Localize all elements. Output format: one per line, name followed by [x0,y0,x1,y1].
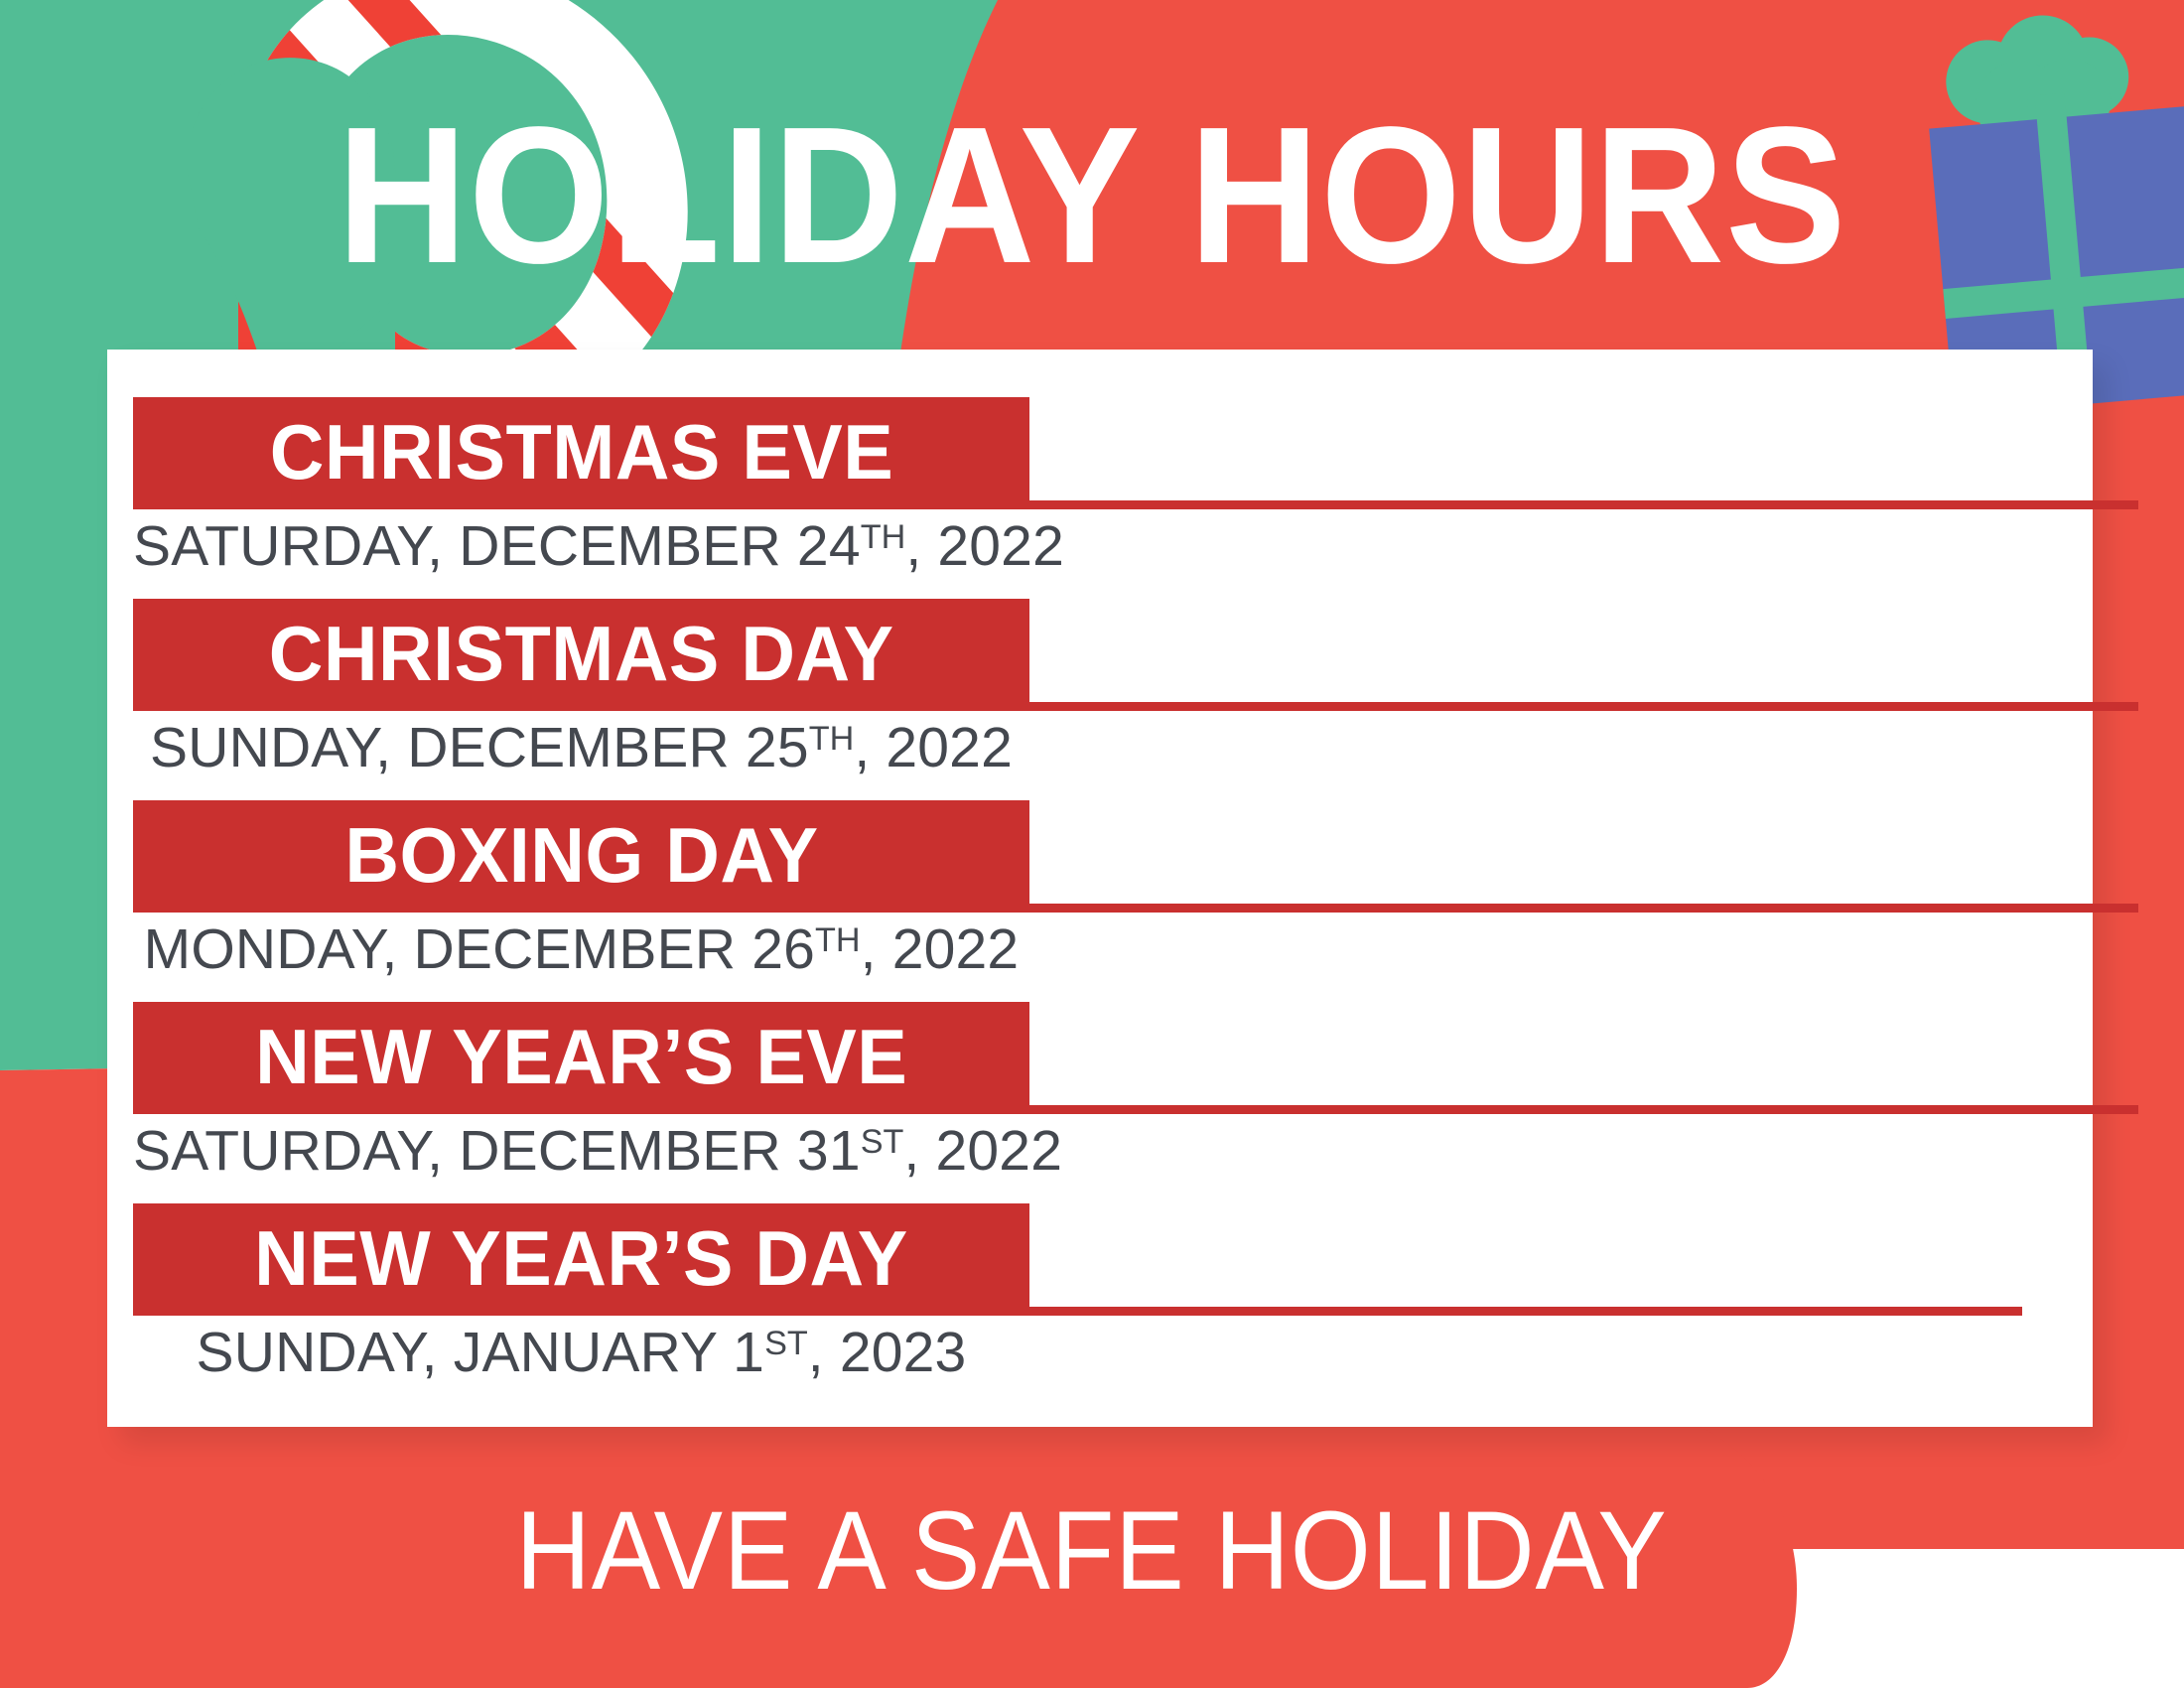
holiday-name-label: CHRISTMAS EVE [269,413,892,491]
hours-write-in-rule[interactable] [1029,1105,2138,1114]
hours-row: CHRISTMAS EVE SATURDAY, DECEMBER 24TH, 2… [107,397,2093,599]
hours-write-in-rule[interactable] [1029,702,2138,711]
holiday-name-bar: CHRISTMAS EVE [133,397,1029,509]
holiday-date: SATURDAY, DECEMBER 24TH, 2022 [133,514,1029,580]
hours-row: CHRISTMAS DAY SUNDAY, DECEMBER 25TH, 202… [107,599,2093,800]
holiday-date-suffix: , 2023 [808,1321,967,1384]
red-bottom-bar-shape [0,1405,1797,1688]
holiday-name-bar: NEW YEAR’S DAY [133,1203,1029,1316]
holiday-date-suffix: , 2022 [861,917,1020,981]
holiday-date-suffix: , 2022 [905,514,1064,578]
hours-row: BOXING DAY MONDAY, DECEMBER 26TH, 2022 [107,800,2093,1002]
holiday-date: SATURDAY, DECEMBER 31ST, 2022 [133,1119,1029,1185]
holiday-date-suffix: , 2022 [854,716,1013,779]
hours-card: CHRISTMAS EVE SATURDAY, DECEMBER 24TH, 2… [107,350,2093,1427]
holiday-name-bar: BOXING DAY [133,800,1029,913]
holiday-date-suffix: , 2022 [903,1119,1062,1183]
hours-row: NEW YEAR’S DAY SUNDAY, JANUARY 1ST, 2023 [107,1203,2093,1405]
holiday-date-prefix: SUNDAY, DECEMBER 25 [150,716,809,779]
holiday-date-prefix: SATURDAY, DECEMBER 24 [133,514,861,578]
holiday-date-ordinal: ST [764,1325,808,1362]
hours-write-in-rule[interactable] [1029,904,2138,913]
holiday-date-ordinal: ST [861,1123,904,1161]
holiday-date-ordinal: TH [861,518,906,556]
holiday-name-bar: CHRISTMAS DAY [133,599,1029,711]
holiday-name-label: CHRISTMAS DAY [269,615,894,692]
holiday-date-ordinal: TH [815,921,861,959]
hours-list: CHRISTMAS EVE SATURDAY, DECEMBER 24TH, 2… [107,350,2093,1427]
holiday-date: MONDAY, DECEMBER 26TH, 2022 [133,917,1029,983]
holiday-name-label: NEW YEAR’S EVE [255,1018,907,1095]
holiday-name-bar: NEW YEAR’S EVE [133,1002,1029,1114]
holiday-date: SUNDAY, DECEMBER 25TH, 2022 [133,716,1029,781]
holiday-date-prefix: SUNDAY, JANUARY 1 [197,1321,765,1384]
holiday-date-ordinal: TH [809,720,855,758]
holiday-name-label: NEW YEAR’S DAY [254,1219,907,1297]
holiday-name-label: BOXING DAY [344,816,818,894]
holiday-date: SUNDAY, JANUARY 1ST, 2023 [133,1321,1029,1386]
holiday-date-prefix: MONDAY, DECEMBER 26 [144,917,815,981]
hours-write-in-rule[interactable] [1029,500,2138,509]
holiday-date-prefix: SATURDAY, DECEMBER 31 [133,1119,861,1183]
hours-write-in-rule[interactable] [1029,1307,2022,1316]
holiday-hours-poster: HOLIDAY HOURS CHRISTMAS EVE SATURDAY, DE… [0,0,2184,1688]
hours-row: NEW YEAR’S EVE SATURDAY, DECEMBER 31ST, … [107,1002,2093,1203]
